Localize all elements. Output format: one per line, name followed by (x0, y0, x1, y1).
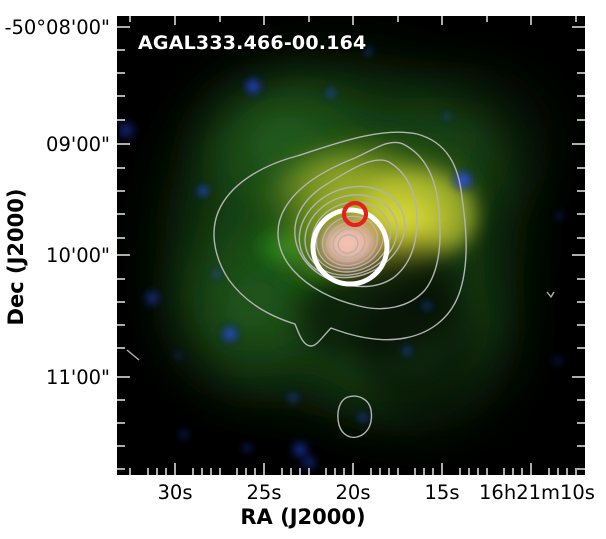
y-axis-title: Dec (J2000) (4, 157, 28, 357)
source-name-label: AGAL333.466-00.164 (138, 32, 366, 54)
x-ticklabel-4: 16h21m10s (471, 481, 603, 504)
x-axis-title: RA (J2000) (0, 505, 606, 529)
figure-root: AGAL333.466-00.164 -50°08'00" 09'00" 10'… (0, 0, 606, 539)
y-ticklabel-3: 11'00" (0, 366, 110, 389)
y-ticklabel-1: 09'00" (0, 133, 110, 156)
sky-image-canvas (117, 16, 585, 475)
image-data-layer (117, 16, 585, 475)
image-plot-area[interactable]: AGAL333.466-00.164 (117, 16, 585, 475)
y-ticklabel-0: -50°08'00" (0, 16, 110, 39)
